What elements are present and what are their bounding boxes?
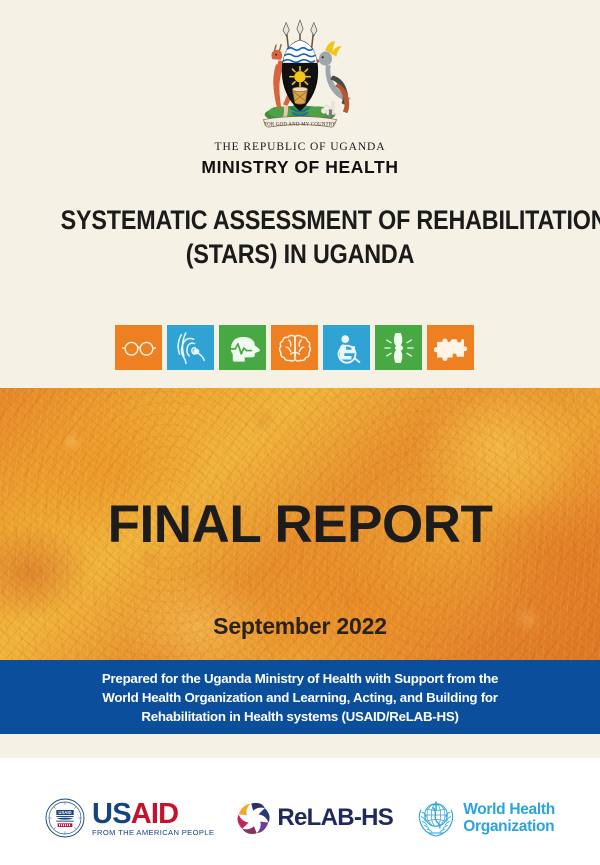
rehabilitation-domain-icon-strip: [115, 325, 488, 370]
banner-line-2: World Health Organization and Learning, …: [102, 688, 497, 707]
head-cognition-icon: [226, 334, 260, 362]
glasses-icon: [121, 337, 157, 359]
svg-text:USAID: USAID: [58, 810, 71, 815]
partner-logo-row: USAID USAID FROM THE AMERICAN: [0, 792, 600, 844]
republic-line: THE REPUBLIC OF UGANDA: [0, 141, 600, 153]
usaid-word: USAID: [92, 800, 214, 828]
banner-line-1: Prepared for the Uganda Ministry of Heal…: [102, 669, 498, 688]
who-wordmark: World Health Organization: [463, 801, 555, 836]
puzzle-piece-icon: [434, 335, 468, 361]
prepared-for-banner: Prepared for the Uganda Ministry of Heal…: [0, 660, 600, 734]
svg-text:FOR GOD AND MY COUNTRY: FOR GOD AND MY COUNTRY: [264, 122, 336, 127]
page-title-line-1: SYSTEMATIC ASSESSMENT OF REHABILITATION …: [61, 203, 540, 237]
usaid-tagline: FROM THE AMERICAN PEOPLE: [92, 829, 214, 837]
usaid-logo: USAID USAID FROM THE AMERICAN: [45, 798, 214, 838]
ministry-line: MINISTRY OF HEALTH: [0, 157, 600, 178]
icon-tile-hearing: [167, 325, 214, 370]
usaid-word-aid: AID: [131, 798, 179, 830]
cream-divider-strip: [0, 734, 600, 758]
icon-tile-integration: [427, 325, 474, 370]
report-label: FINAL REPORT: [0, 494, 600, 555]
ear-hearing-icon: [176, 332, 206, 364]
report-cover-page: FOR GOD AND MY COUNTRY THE REPUBLIC OF U…: [0, 0, 600, 865]
report-date: September 2022: [0, 613, 600, 640]
who-wordmark-line-1: World Health: [463, 801, 555, 819]
who-logo: World Health Organization: [415, 797, 555, 839]
joint-pain-icon: [384, 331, 414, 365]
relab-hs-logo: ReLAB-HS: [236, 800, 393, 836]
footer-section: USAID USAID FROM THE AMERICAN: [0, 758, 600, 865]
relab-pinwheel-icon: [236, 800, 272, 836]
page-title-line-2: (STARS) IN UGANDA: [61, 237, 540, 271]
usaid-word-us: US: [92, 798, 131, 830]
who-wordmark-line-2: Organization: [463, 818, 555, 836]
icon-tile-vision: [115, 325, 162, 370]
banner-line-3: Rehabilitation in Health systems (USAID/…: [141, 707, 458, 726]
page-title: SYSTEMATIC ASSESSMENT OF REHABILITATION …: [61, 203, 540, 271]
coat-of-arms-container: FOR GOD AND MY COUNTRY: [0, 14, 600, 142]
wheelchair-icon: [332, 332, 362, 364]
brain-icon: [279, 333, 311, 363]
who-emblem-icon: [415, 797, 457, 839]
hero-texture-band: FINAL REPORT September 2022: [0, 388, 600, 660]
usaid-wordmark: USAID FROM THE AMERICAN PEOPLE: [92, 800, 214, 837]
relab-wordmark: ReLAB-HS: [277, 804, 393, 832]
cover-header-section: FOR GOD AND MY COUNTRY THE REPUBLIC OF U…: [0, 0, 600, 388]
icon-tile-cognition: [219, 325, 266, 370]
icon-tile-musculoskeletal: [375, 325, 422, 370]
uganda-coat-of-arms-icon: FOR GOD AND MY COUNTRY: [237, 15, 363, 141]
icon-tile-brain: [271, 325, 318, 370]
usaid-seal-icon: USAID: [45, 798, 85, 838]
icon-tile-mobility: [323, 325, 370, 370]
